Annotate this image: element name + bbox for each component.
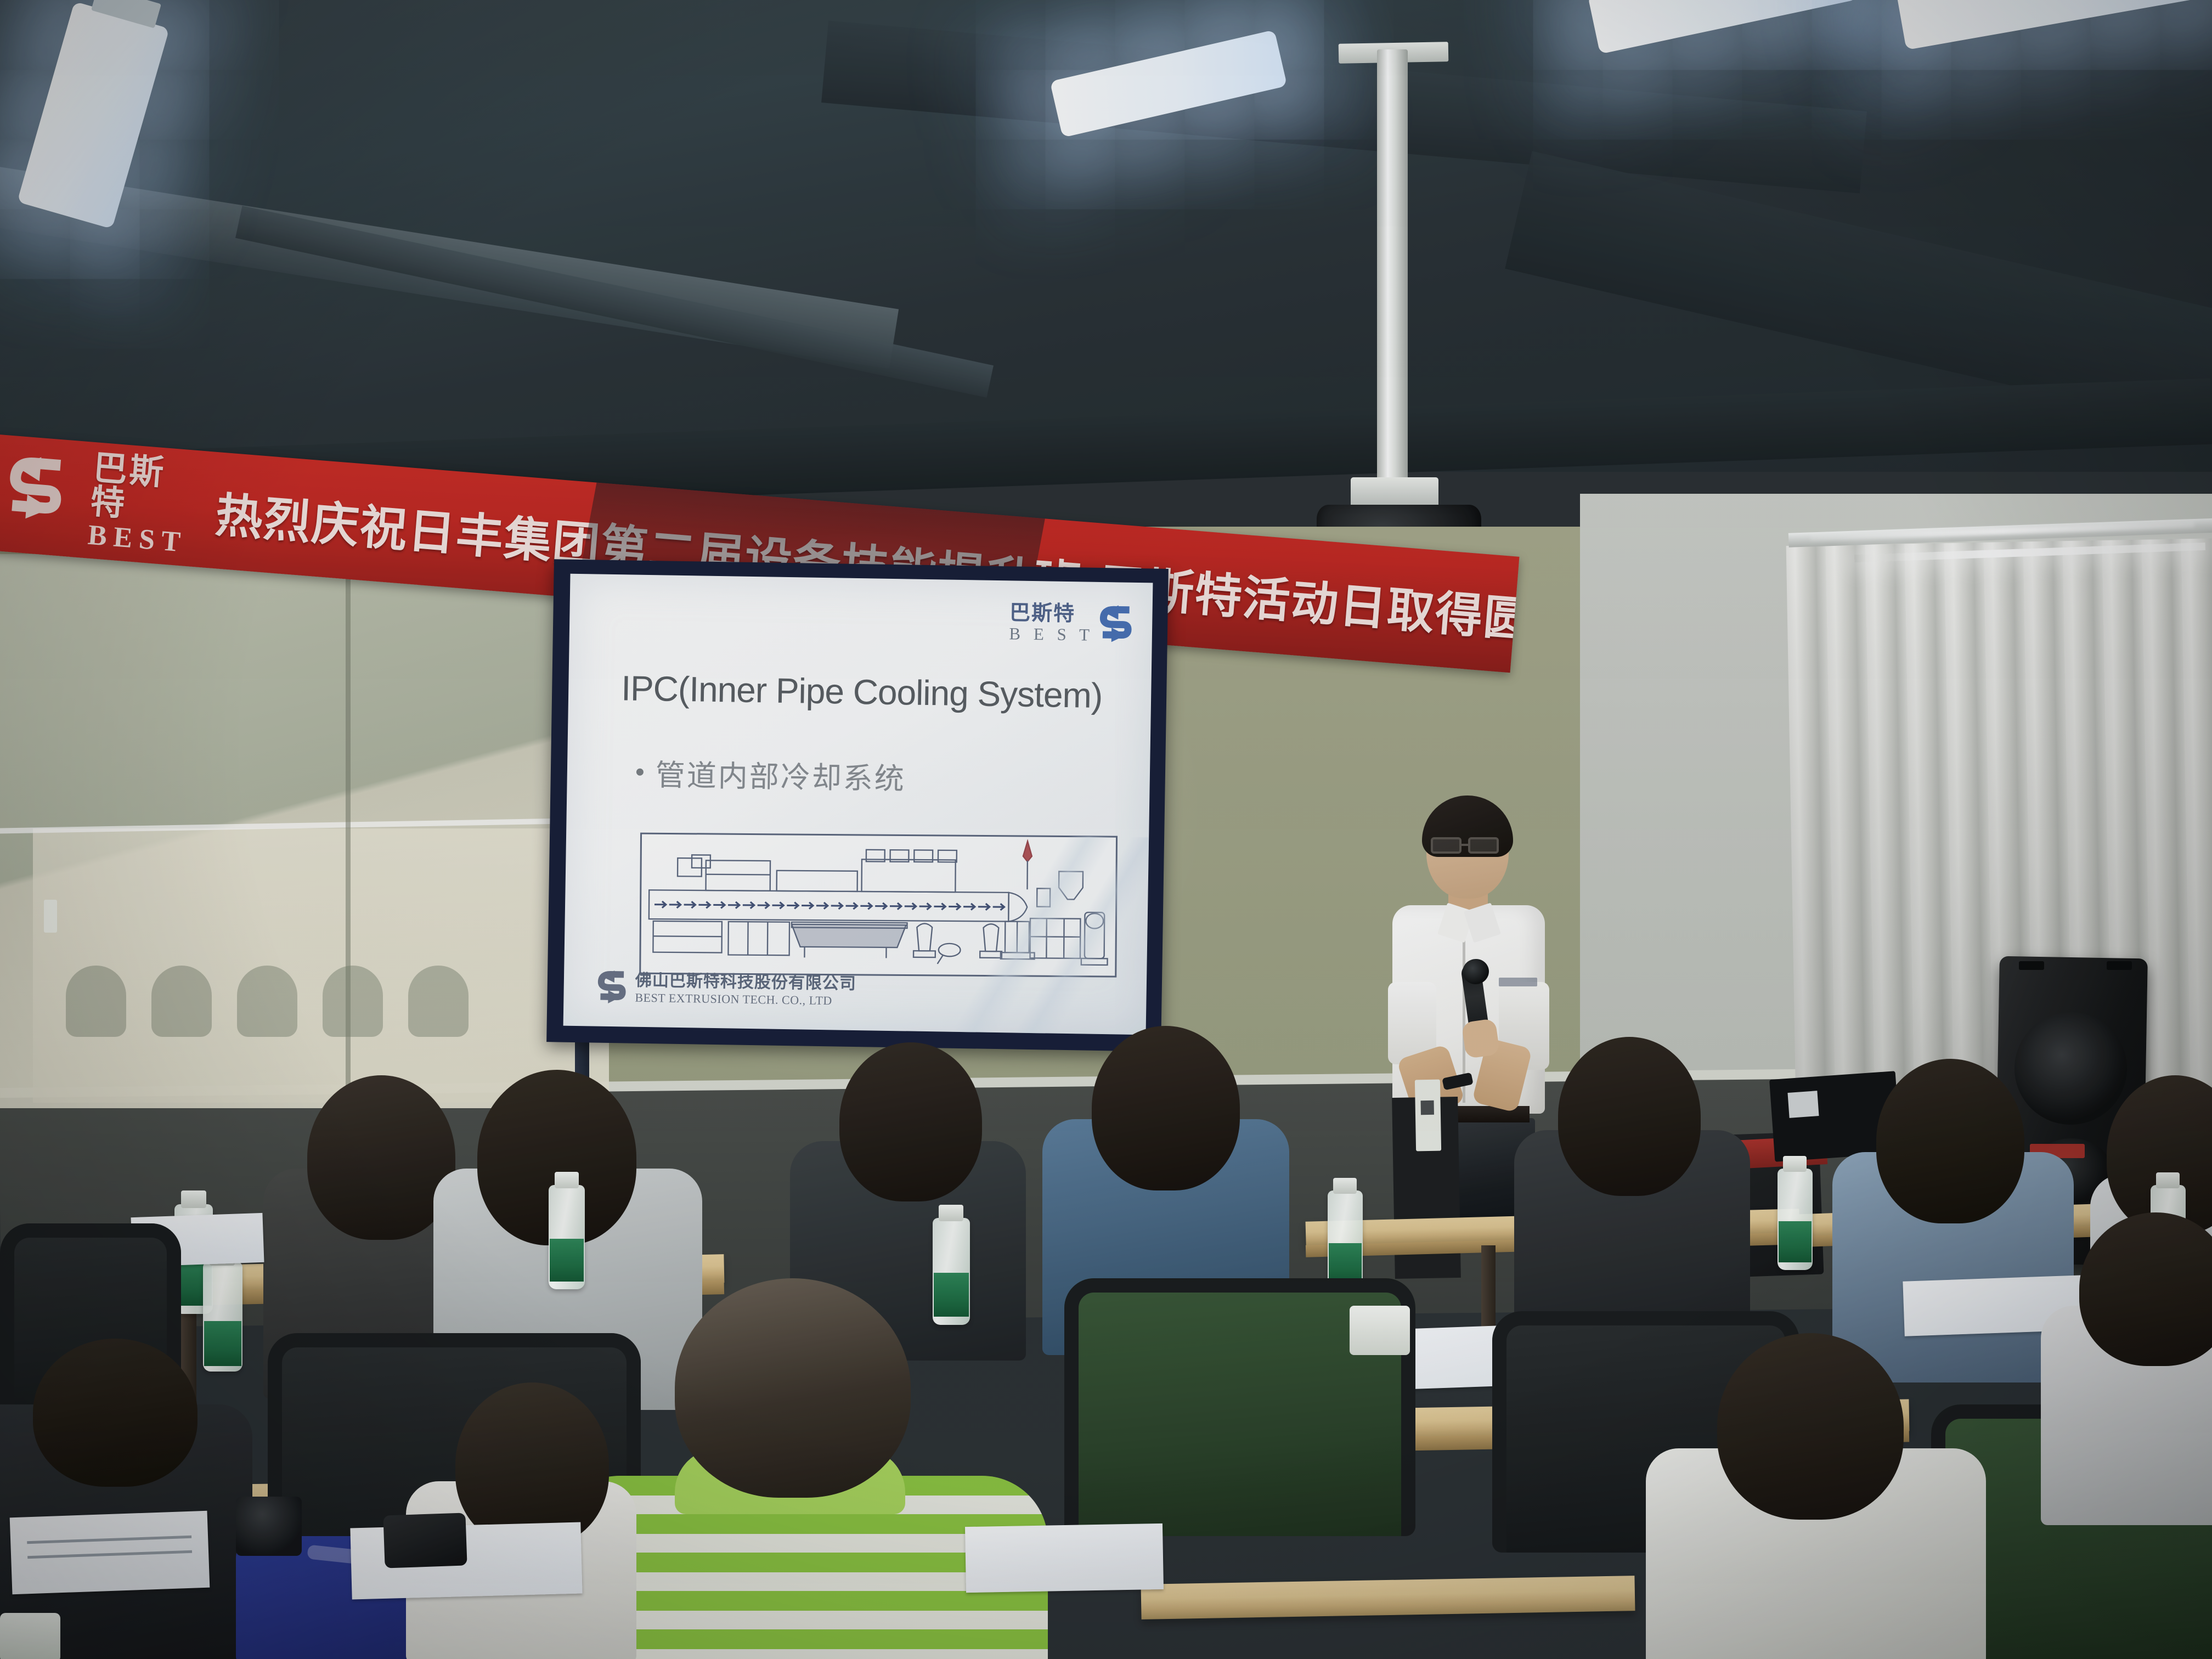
- wall-outlet-plate: [1415, 1080, 1441, 1152]
- table-row-front-right: [1141, 1576, 1635, 1620]
- bottle-label: [1779, 1221, 1812, 1262]
- bottle-label: [204, 1321, 241, 1366]
- slide-title: IPC(Inner Pipe Cooling System): [621, 668, 1103, 716]
- audience-head: [675, 1278, 911, 1498]
- extrusion-line-diagram: [639, 833, 1118, 978]
- paper-cup: [0, 1613, 60, 1659]
- shirt-logo: [1499, 978, 1537, 986]
- footer-company-cn: 佛山巴斯特科技股份有限公司: [635, 972, 856, 993]
- paper-cup: [1350, 1306, 1410, 1355]
- bottle-cap: [181, 1190, 206, 1208]
- audience-head: [1717, 1333, 1904, 1520]
- slide-surface: 巴斯特 B E S T IPC(Inner Pipe Cooling Syste…: [563, 574, 1153, 1035]
- slide-bullet-text: 管道内部冷却系统: [655, 751, 906, 798]
- banner-logo-cn: 巴斯特: [89, 451, 194, 527]
- bottle-cap: [1333, 1178, 1357, 1194]
- glass-hook: [44, 900, 57, 933]
- slide-footer: 佛山巴斯特科技股份有限公司 BEST EXTRUSION TECH. CO., …: [596, 969, 856, 1009]
- slide-best-logo: 巴斯特 B E S T: [1009, 602, 1134, 645]
- footer-company-en: BEST EXTRUSION TECH. CO., LTD: [635, 991, 856, 1007]
- audience-head: [455, 1383, 609, 1547]
- audience-head: [1876, 1059, 2024, 1223]
- photo-scene: 巴斯特 BEST 热烈庆祝日丰集团第二届设备技能提升班-巴斯特活动日取得圆满成功…: [0, 0, 2212, 1659]
- bottle-cap: [2156, 1172, 2180, 1188]
- slide-bullet-item: 管道内部冷却系统: [636, 751, 906, 798]
- bottle-cap: [1783, 1156, 1807, 1172]
- audience-head: [839, 1042, 982, 1201]
- slide-logo-en: B E S T: [1009, 625, 1094, 643]
- projector-mount-pole: [1377, 49, 1408, 483]
- speaker-handle: [2107, 961, 2132, 970]
- bullet-dot-icon: [636, 769, 644, 776]
- audience-head: [1092, 1026, 1240, 1190]
- slide-logo-cn: 巴斯特: [1009, 602, 1094, 624]
- eyeglasses-lens-left-icon: [1431, 837, 1462, 854]
- smartphone: [383, 1513, 467, 1568]
- monitor-reflection: [1787, 1091, 1819, 1118]
- camera-lens-cap: [236, 1497, 302, 1556]
- projection-screen: 巴斯特 B E S T IPC(Inner Pipe Cooling Syste…: [546, 559, 1169, 1051]
- handout-paper: [965, 1523, 1164, 1593]
- eyeglasses-lens-right-icon: [1468, 837, 1499, 854]
- bottle-label: [550, 1239, 584, 1282]
- banner-logo-en: BEST: [87, 521, 188, 557]
- handout-paper: [10, 1511, 210, 1594]
- presenter-hand: [1462, 1018, 1500, 1059]
- audience-head: [33, 1339, 198, 1487]
- best-logo: [2, 452, 80, 540]
- slide-logo-mark-icon: [1098, 604, 1134, 645]
- best-logo-mark-icon: [3, 452, 68, 527]
- glass-reflection-shapes: [66, 966, 549, 1042]
- bottle-cap: [555, 1172, 579, 1188]
- speaker-handle: [2019, 961, 2044, 970]
- speaker-woofer-icon: [2015, 1012, 2127, 1125]
- bottle-cap: [939, 1205, 963, 1221]
- bottle-label: [934, 1273, 969, 1317]
- audience-head: [1558, 1037, 1701, 1196]
- eyeglasses-bridge-icon: [1462, 844, 1469, 846]
- banner-brand: 巴斯特 BEST: [87, 451, 194, 557]
- footer-logo-mark-icon: [596, 969, 628, 1006]
